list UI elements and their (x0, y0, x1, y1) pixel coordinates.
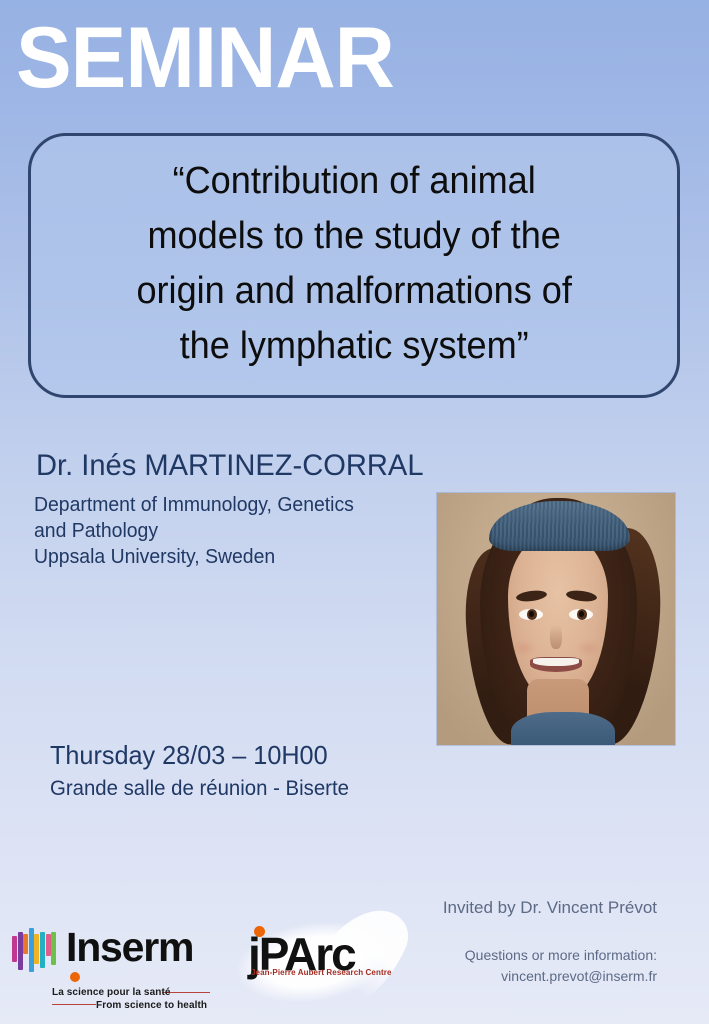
inserm-rule (52, 1004, 96, 1005)
affiliation-line: and Pathology (34, 518, 354, 544)
contact-email[interactable]: vincent.prevot@inserm.fr (465, 966, 657, 987)
event-datetime: Thursday 28/03 – 10H00 (50, 738, 328, 772)
inserm-bar (46, 934, 51, 956)
jparc-dot-icon (254, 926, 265, 937)
inserm-bars-icon (12, 928, 58, 972)
inserm-tagline-en: From science to health (96, 999, 207, 1012)
talk-title-line: origin and malformations of (136, 264, 571, 319)
inserm-bar (51, 932, 56, 965)
inserm-bar (18, 932, 23, 970)
inserm-logo: Inserm La science pour la santé From sci… (12, 924, 212, 1010)
affiliation-line: Uppsala University, Sweden (34, 544, 354, 570)
invited-by: Invited by Dr. Vincent Prévot (443, 897, 657, 919)
jparc-subtitle: Jean-Pierre Aubert Research Centre (251, 968, 392, 978)
speaker-name: Dr. Inés MARTINEZ-CORRAL (36, 447, 424, 485)
speaker-photo (437, 493, 675, 745)
questions-label: Questions or more information: (465, 945, 657, 966)
talk-title-line: “Contribution of animal (136, 154, 571, 209)
talk-title-line: the lymphatic system” (136, 319, 571, 374)
talk-title-box: “Contribution of animal models to the st… (28, 133, 680, 398)
affiliation-line: Department of Immunology, Genetics (34, 492, 354, 518)
inserm-tagline-fr: La science pour la santé (52, 986, 171, 999)
contact-block: Questions or more information: vincent.p… (465, 945, 657, 987)
event-venue: Grande salle de réunion - Biserte (50, 775, 349, 803)
speaker-affiliation: Department of Immunology, Genetics and P… (34, 492, 354, 570)
inserm-dot-icon (70, 972, 80, 982)
inserm-bar (12, 936, 17, 962)
inserm-wordmark: Inserm (66, 924, 193, 970)
talk-title: “Contribution of animal models to the st… (136, 154, 571, 374)
inserm-bar (34, 934, 39, 964)
inserm-bar (29, 928, 34, 972)
talk-title-line: models to the study of the (136, 209, 571, 264)
page-title: SEMINAR (16, 8, 394, 108)
inserm-bar (40, 932, 45, 968)
inserm-bar (23, 934, 28, 954)
jparc-logo: jPArc Jean-Pierre Aubert Research Centre (228, 910, 398, 1010)
seminar-poster: SEMINAR “Contribution of animal models t… (0, 0, 709, 1024)
